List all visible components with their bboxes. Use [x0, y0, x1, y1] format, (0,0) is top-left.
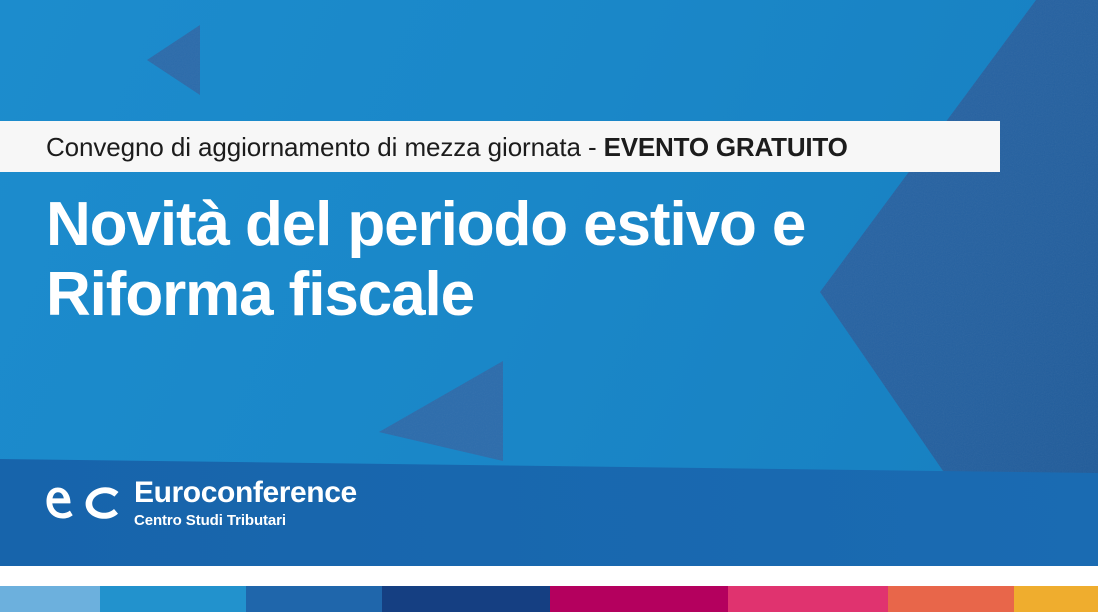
event-banner: Convegno di aggiornamento di mezza giorn…	[0, 0, 1098, 612]
page-title: Novità del periodo estivo e Riforma fisc…	[46, 190, 906, 330]
color-swatch-bright-blue	[100, 586, 246, 612]
color-swatch-pink	[728, 586, 888, 612]
brand-logo: Euroconference Centro Studi Tributari	[46, 478, 357, 528]
color-strip	[0, 586, 1098, 612]
kicker-label: Convegno di aggiornamento di mezza giorn…	[0, 121, 1000, 172]
footer-gap	[0, 566, 1098, 586]
color-swatch-light-blue	[0, 586, 100, 612]
color-swatch-navy-blue	[382, 586, 550, 612]
brand-text: Euroconference Centro Studi Tributari	[134, 478, 357, 528]
kicker-prefix: Convegno di aggiornamento di mezza giorn…	[46, 132, 604, 162]
color-swatch-medium-blue	[246, 586, 382, 612]
brand-name: Euroconference	[134, 478, 357, 508]
kicker-highlight: EVENTO GRATUITO	[604, 132, 848, 162]
color-swatch-magenta	[550, 586, 728, 612]
color-swatch-yellow	[1014, 586, 1098, 612]
brand-tagline: Centro Studi Tributari	[134, 513, 357, 528]
color-swatch-orange	[888, 586, 1014, 612]
kicker-text: Convegno di aggiornamento di mezza giorn…	[46, 134, 848, 160]
ec-monogram-icon	[46, 480, 120, 526]
